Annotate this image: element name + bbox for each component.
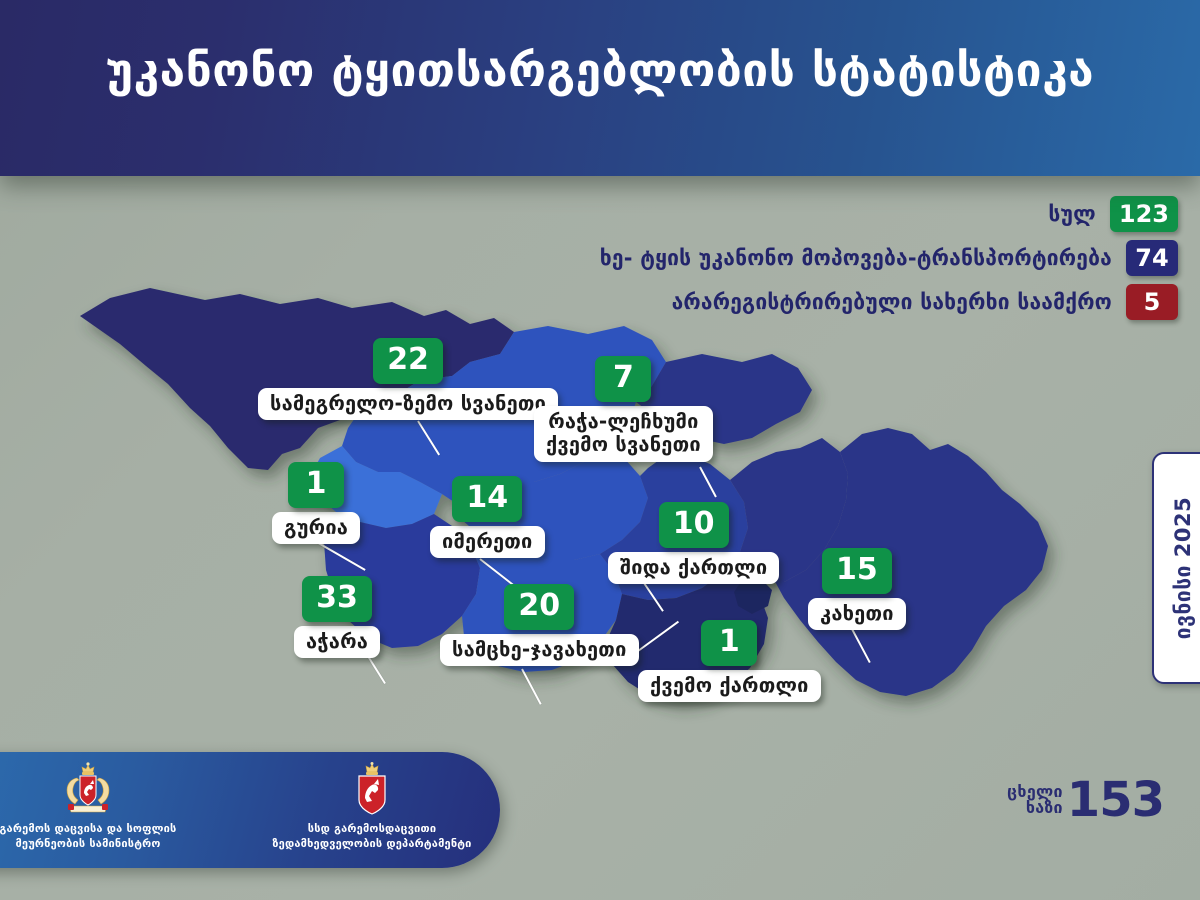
callout-name-shida-kartli: შიდა ქართლი bbox=[608, 552, 779, 585]
date-tab-label: ივნისი 2025 bbox=[1171, 497, 1195, 639]
org-department: სსდ გარემოსდაცვითი ზედამხედველობის დეპარ… bbox=[267, 762, 477, 852]
callout-name-samtskhe: სამცხე-ჯავახეთი bbox=[440, 634, 639, 667]
callout-name-samegrelo: სამეგრელო-ზემო სვანეთი bbox=[258, 388, 558, 421]
callout-racha-lechkhumi[interactable]: 7 რაჭა-ლეჩხუმი ქვემო სვანეთი bbox=[534, 356, 713, 462]
callout-value-racha: 7 bbox=[595, 356, 651, 402]
org-ministry-name: გარემოს დაცვისა და სოფლის მეურნეობის სამ… bbox=[0, 822, 193, 852]
department-shield-icon bbox=[349, 762, 395, 818]
callout-name-kvemo-kartli: ქვემო ქართლი bbox=[638, 670, 821, 703]
legend-row-total: სულ 123 bbox=[600, 196, 1178, 232]
org-ministry: გარემოს დაცვისა და სოფლის მეურნეობის სამ… bbox=[0, 762, 193, 852]
callout-name-kakheti: კახეთი bbox=[808, 598, 906, 631]
callout-guria[interactable]: 1 გურია bbox=[272, 462, 360, 544]
callout-value-guria: 1 bbox=[288, 462, 344, 508]
header-banner: უკანონო ტყითსარგებლობის სტატისტიკა bbox=[0, 0, 1200, 176]
callout-samegrelo-zemo-svaneti[interactable]: 22 სამეგრელო-ზემო სვანეთი bbox=[258, 338, 558, 420]
callout-name-adjara: აჭარა bbox=[294, 626, 380, 659]
callout-kvemo-kartli[interactable]: 1 ქვემო ქართლი bbox=[638, 620, 821, 702]
legend-label-illegal-logging: ხე- ტყის უკანონო მოპოვება-ტრანსპორტირება bbox=[600, 246, 1112, 270]
georgia-coat-of-arms-icon bbox=[59, 762, 117, 818]
callout-value-imereti: 14 bbox=[452, 476, 522, 522]
legend-row-unregistered-sawmill: არარეგისტრირებული სახერხი საამქრო 5 bbox=[600, 284, 1178, 320]
page-title: უკანონო ტყითსარგებლობის სტატისტიკა bbox=[0, 46, 1200, 94]
callout-value-kakheti: 15 bbox=[822, 548, 892, 594]
callout-imereti[interactable]: 14 იმერეთი bbox=[430, 476, 545, 558]
callout-value-samegrelo: 22 bbox=[373, 338, 443, 384]
callout-shida-kartli[interactable]: 10 შიდა ქართლი bbox=[608, 502, 779, 584]
callout-kakheti[interactable]: 15 კახეთი bbox=[808, 548, 906, 630]
legend-label-total: სულ bbox=[1048, 202, 1096, 226]
footer-organizations: გარემოს დაცვისა და სოფლის მეურნეობის სამ… bbox=[0, 752, 500, 868]
legend-row-illegal-logging: ხე- ტყის უკანონო მოპოვება-ტრანსპორტირება… bbox=[600, 240, 1178, 276]
org-department-name: სსდ გარემოსდაცვითი ზედამხედველობის დეპარ… bbox=[267, 822, 477, 852]
date-tab[interactable]: ივნისი 2025 bbox=[1152, 452, 1200, 684]
callout-name-guria: გურია bbox=[272, 512, 360, 545]
hotline: ცხელი ხაზი 153 bbox=[1007, 778, 1164, 822]
callout-value-shida-kartli: 10 bbox=[659, 502, 729, 548]
callout-adjara[interactable]: 33 აჭარა bbox=[294, 576, 380, 658]
callout-name-racha: რაჭა-ლეჩხუმი ქვემო სვანეთი bbox=[534, 406, 713, 462]
callout-name-imereti: იმერეთი bbox=[430, 526, 545, 559]
callout-value-kvemo-kartli: 1 bbox=[701, 620, 757, 666]
infographic-root: უკანონო ტყითსარგებლობის სტატისტიკა სულ 1… bbox=[0, 0, 1200, 900]
callout-samtskhe-javakheti[interactable]: 20 სამცხე-ჯავახეთი bbox=[440, 584, 639, 666]
callout-value-samtskhe: 20 bbox=[504, 584, 574, 630]
legend: სულ 123 ხე- ტყის უკანონო მოპოვება-ტრანსპ… bbox=[600, 196, 1178, 328]
hotline-number: 153 bbox=[1067, 778, 1164, 822]
callout-value-adjara: 33 bbox=[302, 576, 372, 622]
legend-badge-unregistered-sawmill: 5 bbox=[1126, 284, 1178, 320]
legend-badge-total: 123 bbox=[1110, 196, 1178, 232]
hotline-label: ცხელი ხაზი bbox=[1007, 784, 1063, 816]
legend-badge-illegal-logging: 74 bbox=[1126, 240, 1178, 276]
legend-label-unregistered-sawmill: არარეგისტრირებული სახერხი საამქრო bbox=[672, 290, 1112, 314]
